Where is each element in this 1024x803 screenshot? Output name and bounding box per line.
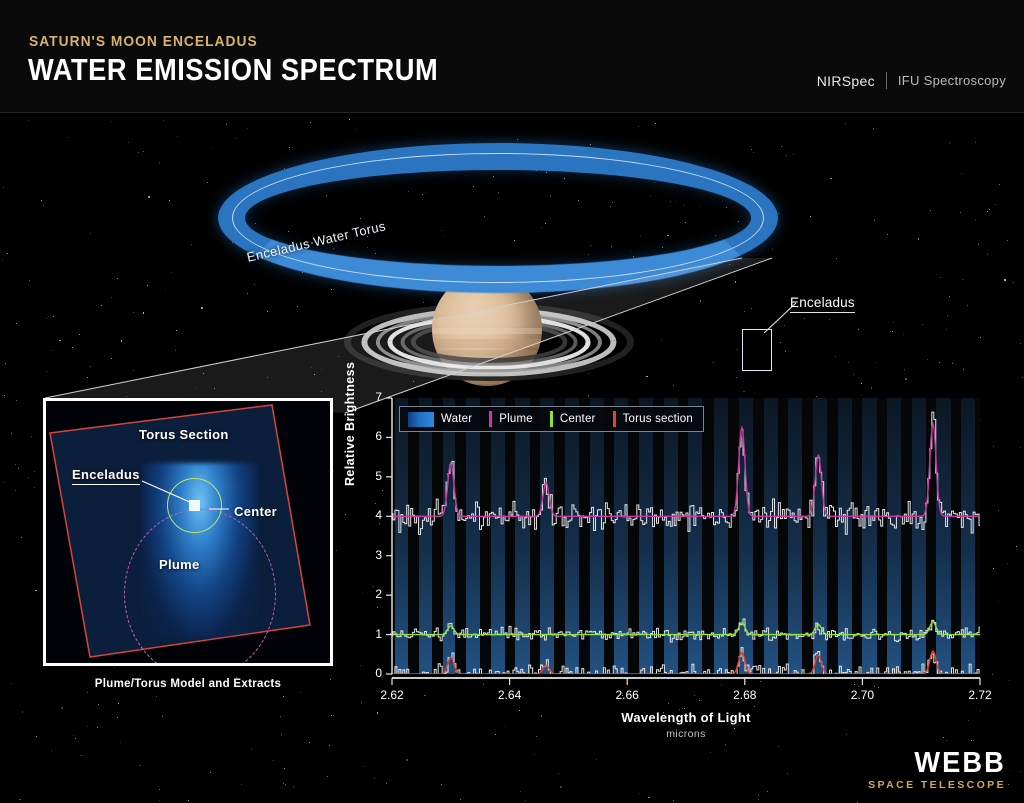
star (300, 692, 301, 693)
star (15, 490, 16, 491)
legend-label: Plume (499, 413, 533, 425)
star (1009, 680, 1010, 681)
star (1016, 546, 1017, 547)
logo-subtitle: SPACE TELESCOPE (868, 779, 1006, 791)
x-axis-units: microns (392, 728, 980, 740)
star (331, 715, 332, 716)
star (35, 590, 37, 592)
eyebrow-title: SATURN'S MOON ENCELADUS (29, 33, 258, 50)
star (281, 734, 282, 735)
legend-swatch (489, 411, 492, 427)
x-tick-label: 2.62 (362, 688, 422, 702)
star (639, 793, 640, 794)
star (11, 433, 12, 434)
star (80, 755, 81, 756)
star (21, 537, 22, 538)
star (787, 773, 788, 774)
chart-axes (345, 392, 1005, 752)
legend-item-torus-section[interactable]: Torus section (613, 411, 693, 427)
star (648, 797, 650, 799)
star (406, 759, 408, 761)
legend-swatch (613, 411, 616, 427)
y-tick-label: 2 (348, 587, 382, 601)
star (1020, 771, 1021, 772)
x-tick-label: 2.70 (832, 688, 892, 702)
legend-item-center[interactable]: Center (550, 411, 596, 427)
legend-item-water[interactable]: Water (408, 412, 472, 427)
star (333, 471, 334, 472)
star (114, 667, 115, 668)
star (87, 726, 88, 727)
star (363, 766, 364, 767)
star (596, 759, 597, 760)
star (273, 760, 274, 761)
chart-legend: WaterPlumeCenterTorus section (399, 406, 704, 432)
instrument-mode: IFU Spectroscopy (898, 73, 1006, 88)
x-axis-label: Wavelength of Light (392, 710, 980, 725)
legend-label: Torus section (623, 413, 693, 425)
star (75, 738, 76, 739)
star (758, 795, 759, 796)
legend-swatch (408, 412, 434, 427)
y-tick-label: 5 (348, 469, 382, 483)
infographic-page: SATURN'S MOON ENCELADUS WATER EMISSION S… (0, 0, 1024, 803)
star (251, 749, 252, 750)
y-tick-label: 3 (348, 548, 382, 562)
star (82, 755, 83, 756)
star (241, 784, 242, 785)
star (374, 778, 375, 779)
star (329, 745, 330, 746)
y-tick-label: 6 (348, 429, 382, 443)
star (61, 707, 63, 709)
star (534, 754, 535, 755)
star (1009, 770, 1010, 771)
star (441, 784, 442, 785)
star (73, 735, 74, 736)
star (118, 703, 119, 704)
y-tick-label: 0 (348, 666, 382, 680)
star (558, 773, 559, 774)
star (36, 736, 37, 737)
star (4, 482, 6, 484)
x-tick-label: 2.72 (950, 688, 1010, 702)
star (386, 783, 387, 784)
star (283, 696, 284, 697)
x-tick-label: 2.66 (597, 688, 657, 702)
star (11, 683, 12, 684)
star (758, 799, 759, 800)
star (1008, 784, 1009, 785)
star (1007, 563, 1008, 564)
star (285, 784, 286, 785)
star (15, 464, 16, 465)
star (87, 692, 88, 693)
star (117, 717, 118, 718)
star (560, 786, 562, 788)
x-tick-label: 2.68 (715, 688, 775, 702)
header-bar: SATURN'S MOON ENCELADUS WATER EMISSION S… (0, 0, 1024, 113)
star (673, 800, 674, 801)
star (22, 711, 24, 713)
y-axis-label: Relative Brightness (343, 362, 357, 486)
star (159, 789, 160, 790)
star (710, 752, 711, 753)
inset-caption: Plume/Torus Model and Extracts (43, 678, 333, 690)
legend-label: Water (441, 413, 472, 425)
inset-label-center: Center (234, 504, 277, 519)
star (327, 776, 328, 777)
star (98, 704, 99, 705)
star (18, 468, 20, 470)
star (293, 786, 295, 788)
star (460, 799, 461, 800)
star (520, 791, 521, 792)
star (51, 750, 52, 751)
star (34, 471, 35, 472)
instrument-name: NIRSpec (817, 73, 875, 89)
star (162, 716, 163, 717)
star (28, 477, 29, 478)
star (19, 799, 21, 801)
instrument-info: NIRSpec IFU Spectroscopy (817, 72, 1006, 89)
star (156, 696, 157, 697)
star (280, 716, 281, 717)
star (139, 765, 141, 767)
inset-label-enceladus: Enceladus (72, 467, 140, 485)
star (284, 768, 285, 769)
star (767, 791, 768, 792)
star (159, 800, 160, 801)
star (34, 487, 35, 488)
star (210, 772, 211, 773)
divider (886, 72, 887, 89)
webb-logo: WEBB SPACE TELESCOPE (868, 748, 1006, 791)
legend-item-plume[interactable]: Plume (489, 411, 533, 427)
star (309, 742, 310, 743)
star (1020, 447, 1021, 448)
star (525, 800, 526, 801)
legend-label: Center (560, 413, 596, 425)
page-title: WATER EMISSION SPECTRUM (28, 52, 438, 88)
star (336, 550, 337, 551)
y-tick-label: 4 (348, 508, 382, 522)
spectrum-chart: Relative Brightness Wavelength of Light … (345, 392, 1005, 752)
logo-webb-text: WEBB (876, 748, 1006, 778)
y-tick-label: 1 (348, 627, 382, 641)
plume-torus-inset-image: Torus Section Enceladus Center Plume (43, 398, 333, 666)
inset-label-plume: Plume (159, 557, 200, 572)
star (31, 436, 32, 437)
x-tick-label: 2.64 (480, 688, 540, 702)
star (188, 800, 189, 801)
legend-swatch (550, 411, 553, 427)
y-tick-label: 7 (348, 390, 382, 404)
star (97, 727, 98, 728)
inset-label-torus-section: Torus Section (139, 427, 229, 442)
star (120, 742, 121, 743)
zoom-connector-wedge (0, 113, 1024, 413)
